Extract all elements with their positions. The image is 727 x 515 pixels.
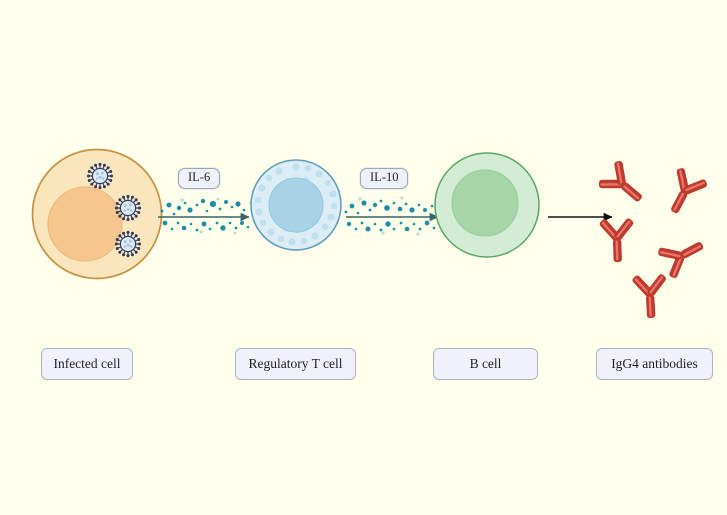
- infected-cell-nucleus: [48, 187, 122, 261]
- virus-particle-icon: [115, 231, 141, 257]
- regulatory-t-cell[interactable]: [248, 157, 344, 253]
- b-cell-nucleus: [452, 170, 518, 236]
- virus-particle-icon: [87, 163, 113, 189]
- antibody: [595, 157, 652, 213]
- label-infected-cell: Infected cell: [41, 348, 133, 380]
- igg4-antibody-group[interactable]: [596, 146, 718, 316]
- diagram-canvas: IL-6: [0, 0, 727, 515]
- label-igg4-antibodies: IgG4 antibodies: [596, 348, 713, 380]
- antibody: [598, 217, 636, 263]
- antibody: [631, 273, 669, 319]
- label-b-cell: B cell: [433, 348, 538, 380]
- label-regulatory-t-cell: Regulatory T cell: [235, 348, 356, 380]
- t-cell-nucleus: [269, 178, 323, 232]
- antibody: [655, 229, 711, 282]
- il6-label: IL-6: [178, 168, 220, 189]
- infected-cell[interactable]: [30, 138, 165, 290]
- antibody: [658, 165, 711, 221]
- virus-particle-icon: [115, 195, 141, 221]
- b-cell[interactable]: [432, 150, 542, 260]
- il10-label: IL-10: [360, 168, 408, 189]
- il6-signal-arrow: [152, 192, 262, 240]
